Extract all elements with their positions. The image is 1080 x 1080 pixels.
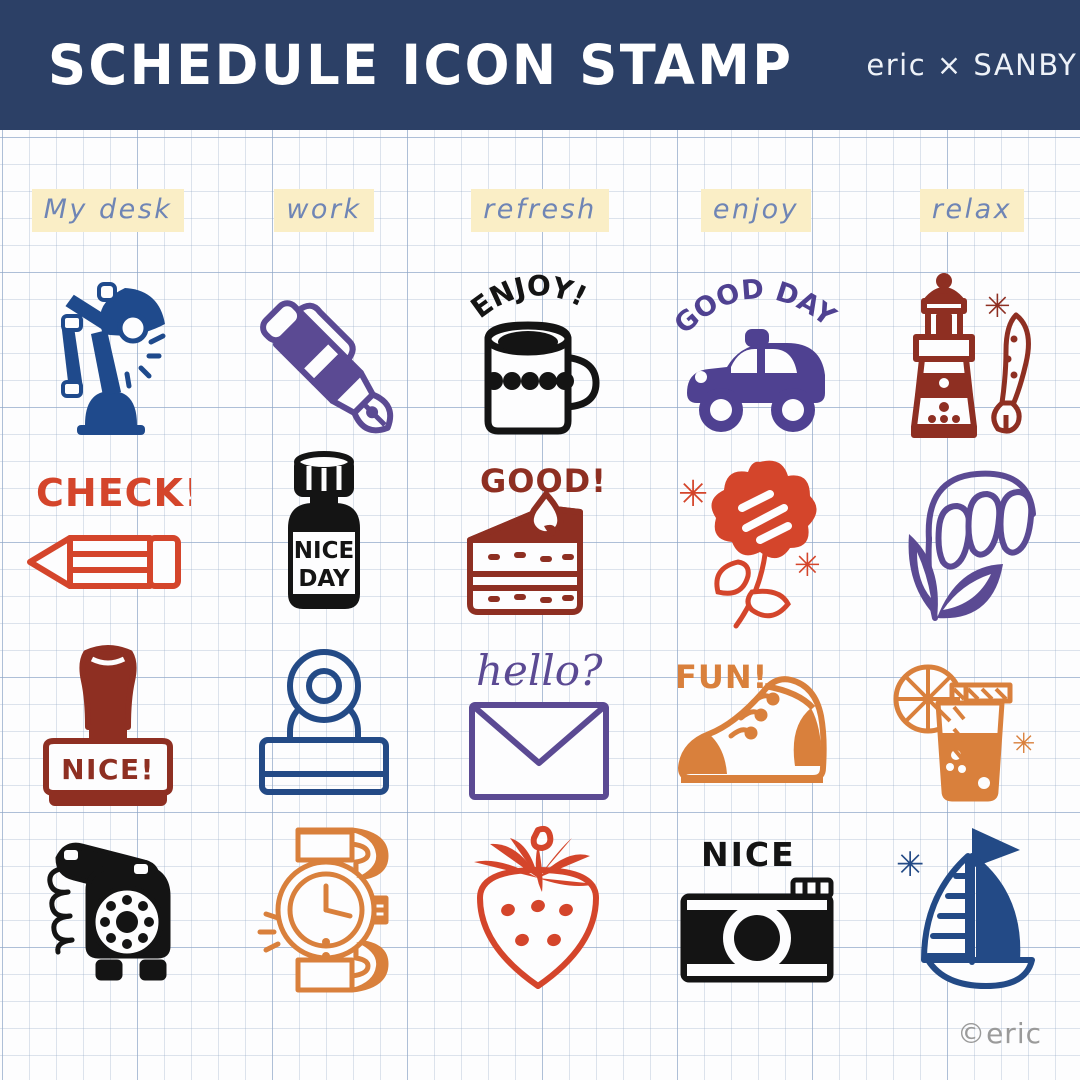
mug-caption: ENJOY! [464,269,591,324]
flower-icon: ✳ ✳ [674,450,839,630]
stamp-cell-sailboat: ✳ [864,817,1080,1002]
rubber-stamp-icon: NICE! [28,637,188,812]
category-label-relax: relax [920,189,1024,232]
stamp-cell-strawberry [432,817,648,1002]
wristwatch-icon [242,820,407,1000]
ink-bottle-icon: NICE DAY [249,450,399,630]
stamp-cell-fountain-pen [216,262,432,447]
stamp-cell-lily-of-the-valley [864,447,1080,632]
stamp-grid: ENJOY! GOOD DAY [0,262,1080,1002]
taxi-car-icon: GOOD DAY [669,267,844,442]
envelope-icon: hello? [458,637,623,812]
camera-caption: NICE [701,835,796,874]
category-cell-my-desk: My desk [0,186,216,234]
ink-bottle-caption-line1: NICE [294,538,354,564]
rotary-telephone-icon [26,822,191,997]
category-cell-work: work [216,186,432,234]
rubber-stamp-caption: NICE! [61,753,155,786]
envelope-caption: hello? [476,646,603,695]
category-label-work: work [274,189,373,232]
category-label-my-desk: My desk [32,189,185,232]
stamp-cell-coffee-mug: ENJOY! [432,262,648,447]
stamp-cell-cake-slice: GOOD! [432,447,648,632]
stamp-cell-lighthouse: ✳ [864,262,1080,447]
category-cell-enjoy: enjoy [648,186,864,234]
svg-text:✳: ✳ [678,474,708,515]
lighthouse-icon: ✳ [892,267,1052,442]
category-cell-refresh: refresh [432,186,648,234]
lily-of-the-valley-icon [895,452,1050,627]
stamp-cell-ink-bottle: NICE DAY [216,447,432,632]
stamp-cell-pencil: CHECK! [0,447,216,632]
stamp-cell-desk-lamp [0,262,216,447]
copyright-watermark: ©eric [957,1017,1042,1050]
category-label-refresh: refresh [471,189,609,232]
stamp-cell-juice-glass: ✳ [864,632,1080,817]
strawberry-icon [460,822,620,997]
stamp-cell-flower: ✳ ✳ [648,447,864,632]
svg-text:✳: ✳ [896,845,925,885]
stamp-cell-camera: NICE [648,817,864,1002]
pencil-caption: CHECK! [36,471,191,515]
svg-text:✳: ✳ [1012,727,1035,760]
coffee-mug-icon: ENJOY! [458,267,623,442]
cake-slice-icon: GOOD! [458,452,623,627]
svg-text:✳: ✳ [794,546,821,584]
sneaker-icon: FUN! [669,640,844,810]
category-label-enjoy: enjoy [701,189,811,232]
header-bar: SCHEDULE ICON STAMP eric × SANBY [0,0,1080,130]
stamp-cell-envelope: hello? [432,632,648,817]
camera-icon: NICE [669,822,844,997]
stamp-cell-rotary-telephone [0,817,216,1002]
stamp-cell-rubber-stamp: NICE! [0,632,216,817]
stamp-cell-date-stamp [216,632,432,817]
fountain-pen-icon [249,270,399,440]
page-title: SCHEDULE ICON STAMP [48,33,793,97]
juice-glass-icon: ✳ [890,637,1055,812]
stamp-cell-taxi-car: GOOD DAY [648,262,864,447]
desk-lamp-icon [33,270,183,440]
sneaker-caption: FUN! [675,658,768,696]
category-cell-relax: relax [864,186,1080,234]
poster-page: SCHEDULE ICON STAMP eric × SANBY My desk… [0,0,1080,1080]
brand-credit: eric × SANBY [866,48,1077,82]
svg-text:✳: ✳ [984,287,1011,325]
stamp-cell-wristwatch [216,817,432,1002]
date-stamp-icon [244,642,404,807]
ink-bottle-caption-line2: DAY [298,566,350,592]
pencil-icon: CHECK! [26,460,191,620]
sailboat-icon: ✳ [890,820,1055,1000]
category-label-row: My desk work refresh enjoy relax [0,186,1080,234]
stamp-cell-sneaker: FUN! [648,632,864,817]
